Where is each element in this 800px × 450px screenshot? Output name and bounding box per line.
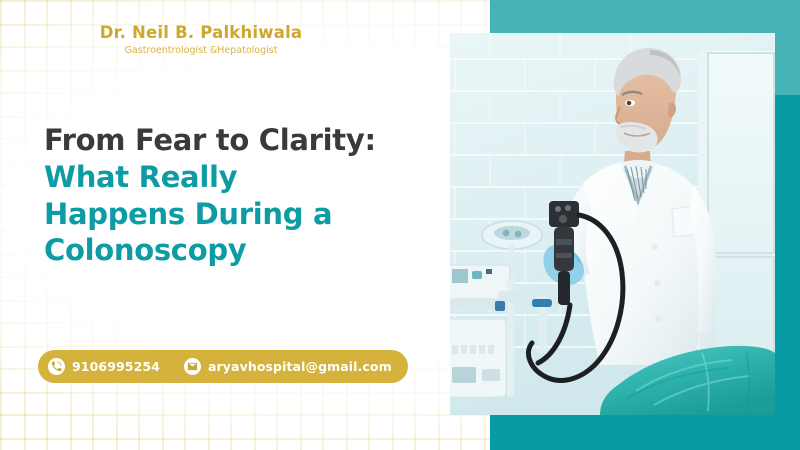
headline-line-3: Happens During a <box>44 196 444 233</box>
headline-line-4: Colonoscopy <box>44 232 444 269</box>
contact-email[interactable]: aryavhospital@gmail.com <box>184 358 392 375</box>
email-address: aryavhospital@gmail.com <box>208 359 392 374</box>
envelope-icon <box>184 358 201 375</box>
doctor-specialty: Gastroentrologist &Hepatologist <box>36 46 366 56</box>
brand-block: Dr. Neil B. Palkhiwala Gastroentrologist… <box>36 24 366 57</box>
contact-phone[interactable]: 9106995254 <box>48 358 160 375</box>
phone-icon <box>48 358 65 375</box>
headline-line-1: From Fear to Clarity: <box>44 122 444 159</box>
promotional-banner: Dr. Neil B. Palkhiwala Gastroentrologist… <box>0 0 800 450</box>
phone-number: 9106995254 <box>72 359 160 374</box>
headline: From Fear to Clarity: What Really Happen… <box>44 122 444 269</box>
headline-line-2: What Really <box>44 159 444 196</box>
doctor-endoscopy-photo <box>450 33 775 415</box>
doctor-name: Dr. Neil B. Palkhiwala <box>36 24 366 42</box>
contact-pill: 9106995254 aryavhospital@gmail.com <box>38 350 408 383</box>
